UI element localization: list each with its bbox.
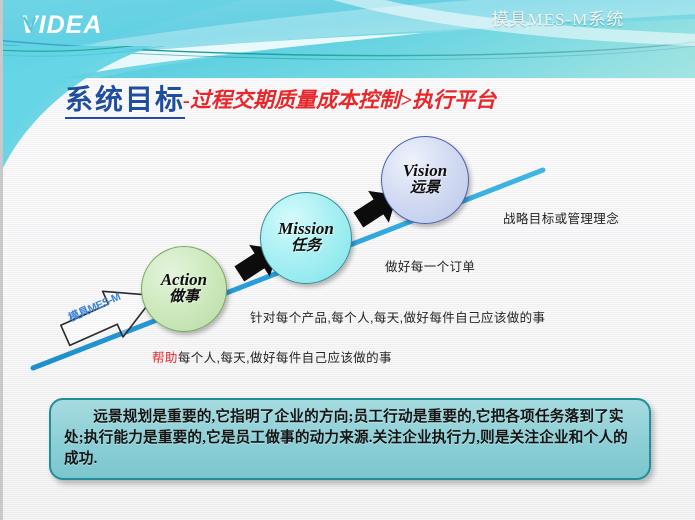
callout-help-text: 每个人,每天,做好每件自己应该做的事 <box>178 351 392 365</box>
node-vision-en: Vision <box>403 162 447 180</box>
app-title: 模具MES-M系统 <box>443 5 673 30</box>
callout-help-highlight: 帮助 <box>152 351 178 365</box>
page-title-main: 系统目标 <box>65 85 185 119</box>
summary-box: 远景规划是重要的,它指明了企业的方向;员工行动是重要的,它把各项任务落到了实处;… <box>49 398 651 480</box>
node-mission-cn: 任务 <box>291 238 321 255</box>
node-action[interactable]: Action 做事 <box>141 246 227 332</box>
node-vision[interactable]: Vision 远景 <box>381 136 469 224</box>
videa-logo: VIDEA <box>21 10 145 40</box>
node-mission-en: Mission <box>278 220 334 238</box>
node-action-cn: 做事 <box>169 289 199 306</box>
callout-strategy: 战略目标或管理理念 <box>503 208 619 227</box>
videa-logo-glyph: VIDEA <box>21 10 145 40</box>
callout-help: 帮助每个人,每天,做好每件自己应该做的事 <box>152 347 392 366</box>
callout-order: 做好每一个订单 <box>385 256 475 275</box>
goal-diagram: 模具MES-M Action 做事 Mission 任务 Vision 远景 战… <box>3 118 695 388</box>
page-title: 系统目标-过程交期质量成本控制>执行平台 <box>65 78 496 118</box>
summary-text: 远景规划是重要的,它指明了企业的方向;员工行动是重要的,它把各项任务落到了实处;… <box>64 407 637 470</box>
callout-product: 针对每个产品,每个人,每天,做好每件自己应该做的事 <box>250 307 545 326</box>
page-title-sub: -过程交期质量成本控制>执行平台 <box>183 88 496 112</box>
node-mission[interactable]: Mission 任务 <box>260 192 352 284</box>
node-vision-cn: 远景 <box>410 180 440 197</box>
slide-canvas: VIDEA 模具MES-M系统 系统目标-过程交期质量成本控制>执行平台 <box>0 0 695 520</box>
node-action-en: Action <box>161 271 207 289</box>
